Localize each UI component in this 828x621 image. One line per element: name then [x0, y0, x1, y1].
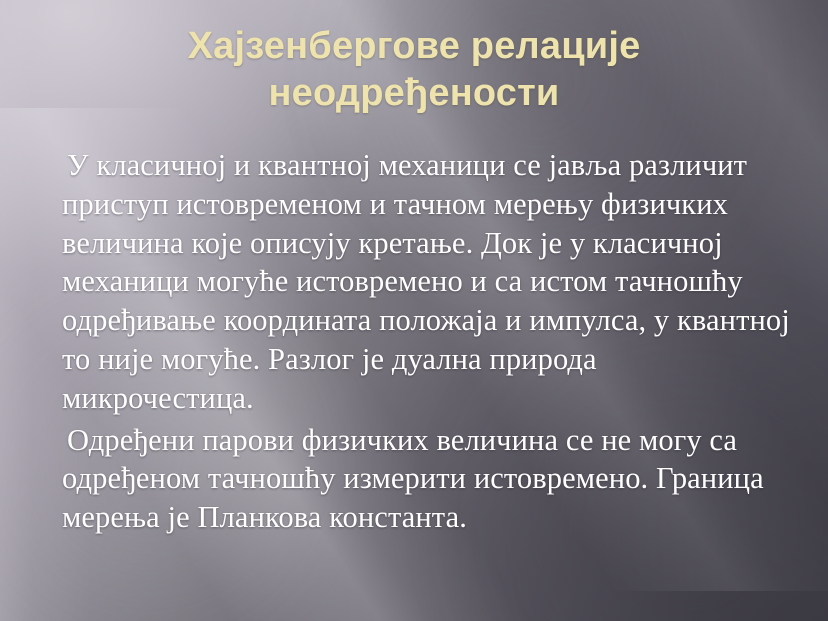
body-paragraph-2: Одређени парови физичких величина се не … — [62, 421, 792, 537]
slide-body: У класичној и квантној механици се јавља… — [62, 146, 792, 537]
slide-content: Хајзенбергове релације неодређености У к… — [0, 0, 828, 621]
presentation-slide: Хајзенбергове релације неодређености У к… — [0, 0, 828, 621]
slide-title: Хајзенбергове релације неодређености — [60, 23, 768, 117]
body-paragraph-1: У класичној и квантној механици се јавља… — [62, 146, 792, 418]
